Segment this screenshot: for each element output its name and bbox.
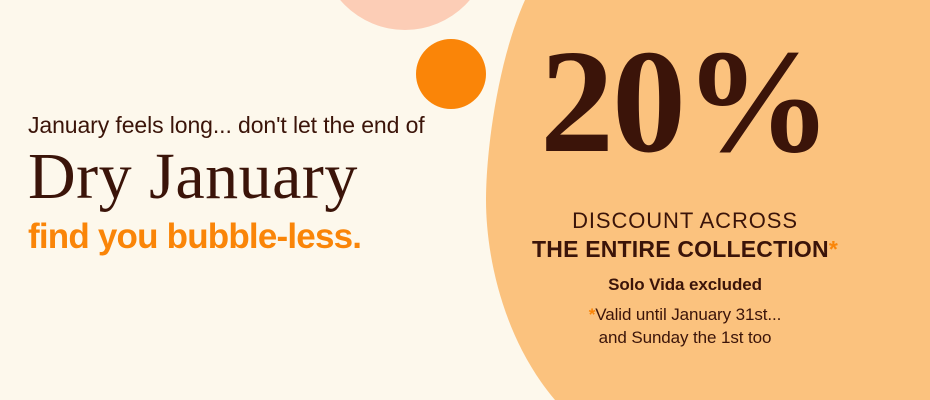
tagline-text: January feels long... don't let the end … (28, 112, 468, 138)
discount-across-label: DISCOUNT ACROSS (440, 208, 930, 233)
validity-note-text: Valid until January 31st... (595, 305, 781, 324)
discount-percent-value: 20% (540, 28, 830, 176)
subheadline-text: find you bubble-less. (28, 219, 468, 254)
asterisk-icon: * (829, 236, 838, 262)
promo-banner: 20% DISCOUNT ACROSS THE ENTIRE COLLECTIO… (0, 0, 930, 400)
page-title: Dry January (28, 144, 468, 210)
discount-percent-wrapper: 20% (440, 28, 930, 176)
marketing-copy: January feels long... don't let the end … (28, 112, 468, 254)
validity-note-line-2: and Sunday the 1st too (440, 327, 930, 349)
entire-collection-label: THE ENTIRE COLLECTION* (440, 236, 930, 262)
discount-panel-content: 20% DISCOUNT ACROSS THE ENTIRE COLLECTIO… (440, 0, 930, 400)
discount-details: DISCOUNT ACROSS THE ENTIRE COLLECTION* S… (440, 208, 930, 349)
validity-note-line-1: *Valid until January 31st... (440, 304, 930, 326)
discount-panel: 20% DISCOUNT ACROSS THE ENTIRE COLLECTIO… (440, 0, 930, 400)
entire-collection-text: THE ENTIRE COLLECTION (532, 236, 829, 262)
exclusion-note: Solo Vida excluded (440, 275, 930, 295)
